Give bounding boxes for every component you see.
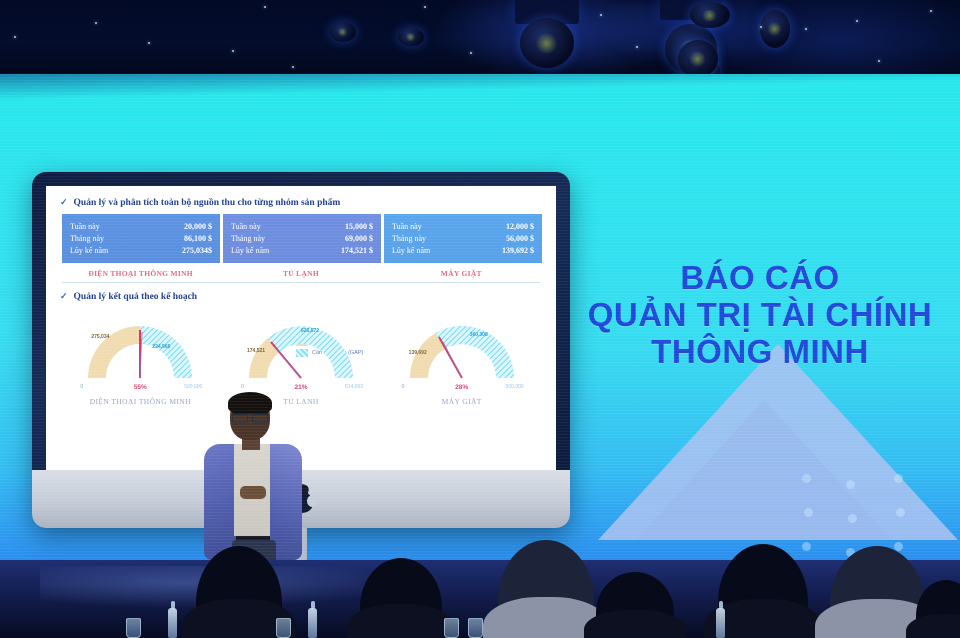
gauge-max-label: 500,000	[184, 384, 202, 390]
product-label-row: ĐIỆN THOẠI THÔNG MINH TỦ LẠNH MÁY GIẶT	[62, 269, 540, 283]
drinking-glass	[444, 618, 459, 638]
water-bottle	[168, 608, 177, 638]
kpi-label: Tháng này	[70, 234, 104, 243]
kpi-value: 86,100 $	[184, 234, 212, 243]
bullet-text-1: Quản lý và phân tích toàn bộ nguồn thu c…	[74, 198, 341, 208]
led-video-wall: BÁO CÁO QUẢN TRỊ TÀI CHÍNH THÔNG MINH ✓ …	[0, 74, 960, 566]
ceiling-star-light	[805, 28, 807, 30]
kpi-label: Tháng này	[231, 234, 265, 243]
presenter-hair	[228, 392, 272, 414]
kpi-card-washer: Tuần này 12,000 $ Tháng này 56,000 $ Lũy…	[384, 214, 542, 263]
kpi-value: 56,000 $	[506, 234, 534, 243]
gauge-max-label: 500,000	[506, 384, 524, 390]
stage-light-fixture	[690, 2, 730, 28]
kpi-card-fridge: Tuần này 15,000 $ Tháng này 69,000 $ Lũy…	[223, 214, 381, 263]
gauge-dial: 275,034 224,966 0 500,000 55%	[78, 318, 202, 382]
kpi-value: 69,000 $	[345, 234, 373, 243]
product-label-smartphone: ĐIỆN THOẠI THÔNG MINH	[62, 269, 219, 278]
ceiling-star-light	[292, 66, 294, 68]
kpi-label: Lũy kế năm	[392, 246, 430, 255]
kpi-line-month: Tháng này 56,000 $	[392, 232, 534, 244]
gauge-gap-value: 224,966	[152, 344, 170, 350]
gauge-fridge: 174,521 626,572 0 814,093 21% TỦ LẠNH	[221, 318, 382, 404]
drinking-glass	[126, 618, 141, 638]
gauge-min-label: 0	[241, 384, 244, 390]
kpi-value: 15,000 $	[345, 222, 373, 231]
ceiling-star-light	[930, 10, 932, 12]
ceiling-star-light	[470, 52, 472, 54]
kpi-label: Tuần này	[231, 222, 261, 231]
kpi-line-week: Tuần này 15,000 $	[231, 220, 373, 232]
kpi-card-row: Tuần này 20,000 $ Tháng này 86,100 $ Lũy…	[62, 214, 542, 263]
venue-ceiling	[0, 0, 960, 78]
gauge-chart-row: 275,034 224,966 0 500,000 55% ĐIỆN THOẠI…	[60, 318, 542, 404]
headline-line-3: THÔNG MINH	[560, 334, 960, 371]
ceiling-star-light	[14, 36, 16, 38]
check-icon: ✓	[60, 198, 68, 208]
ceiling-star-light	[95, 22, 97, 24]
gauge-min-label: 0	[80, 384, 83, 390]
gauge-washer: 139,692 360,308 0 500,000 28% MÁY GIẶT	[381, 318, 542, 404]
kpi-line-ytd: Lũy kế năm 139,692 $	[392, 244, 534, 256]
stage-light-fixture	[520, 18, 574, 68]
kpi-value: 139,692 $	[502, 246, 534, 255]
ceiling-star-light	[600, 14, 602, 16]
gauge-name-washer: MÁY GIẶT	[381, 397, 542, 406]
gauge-dial: 174,521 626,572 0 814,093 21%	[239, 318, 363, 382]
kpi-value: 12,000 $	[506, 222, 534, 231]
headline-line-1: BÁO CÁO	[560, 260, 960, 297]
stage-light-fixture	[760, 10, 790, 48]
screen-top-shadow	[0, 74, 960, 100]
product-label-washer: MÁY GIẶT	[383, 269, 540, 278]
gauge-percent-label: 55%	[134, 384, 147, 391]
ceiling-star-light	[264, 6, 266, 8]
kpi-label: Lũy kế năm	[231, 246, 269, 255]
kpi-line-week: Tuần này 20,000 $	[70, 220, 212, 232]
presenter-person	[192, 394, 314, 566]
bullet-plan-tracking: ✓ Quản lý kết quả theo kế hoạch	[60, 292, 542, 302]
kpi-line-week: Tuần này 12,000 $	[392, 220, 534, 232]
gauge-smartphone: 275,034 224,966 0 500,000 55% ĐIỆN THOẠI…	[60, 318, 221, 404]
product-label-fridge: TỦ LẠNH	[222, 269, 379, 278]
kpi-line-month: Tháng này 86,100 $	[70, 232, 212, 244]
headline-line-2: QUẢN TRỊ TÀI CHÍNH	[560, 297, 960, 334]
water-bottle	[716, 608, 725, 638]
ceiling-star-light	[856, 20, 858, 22]
ceiling-star-light	[148, 42, 150, 44]
water-bottle	[308, 608, 317, 638]
gauge-actual-value: 275,034	[91, 334, 109, 340]
presenter-hands	[240, 486, 266, 499]
ceiling-star-light	[232, 50, 234, 52]
ceiling-star-light	[424, 6, 426, 8]
kpi-value: 275,034$	[182, 246, 212, 255]
gauge-dial: 139,692 360,308 0 500,000 28%	[400, 318, 524, 382]
presenter-glasses-icon	[232, 413, 268, 420]
drinking-glass	[276, 618, 291, 638]
gauge-actual-value: 174,521	[247, 348, 265, 354]
gauge-max-label: 814,093	[345, 384, 363, 390]
gauge-gap-value: 360,308	[470, 332, 488, 338]
gauge-percent-label: 28%	[455, 384, 468, 391]
ceiling-star-light	[636, 46, 638, 48]
conference-stage-photo: BÁO CÁO QUẢN TRỊ TÀI CHÍNH THÔNG MINH ✓ …	[0, 0, 960, 638]
kpi-line-ytd: Lũy kế năm 275,034$	[70, 244, 212, 256]
ceiling-star-light	[760, 26, 762, 28]
check-icon: ✓	[60, 292, 68, 302]
bullet-revenue-analysis: ✓ Quản lý và phân tích toàn bộ nguồn thu…	[60, 198, 542, 208]
kpi-card-smartphone: Tuần này 20,000 $ Tháng này 86,100 $ Lũy…	[62, 214, 220, 263]
gauge-min-label: 0	[402, 384, 405, 390]
gauge-percent-label: 21%	[294, 384, 307, 391]
kpi-value: 174,521 $	[341, 246, 373, 255]
bullet-text-2: Quản lý kết quả theo kế hoạch	[74, 292, 198, 302]
kpi-line-month: Tháng này 69,000 $	[231, 232, 373, 244]
kpi-value: 20,000 $	[184, 222, 212, 231]
kpi-label: Lũy kế năm	[70, 246, 108, 255]
kpi-label: Tháng này	[392, 234, 426, 243]
drinking-glass	[468, 618, 483, 638]
gauge-gap-value: 626,572	[301, 328, 319, 334]
gauge-svg	[78, 318, 202, 382]
stage-light-fixture	[398, 28, 424, 46]
gauge-actual-value: 139,692	[409, 350, 427, 356]
kpi-line-ytd: Lũy kế năm 174,521 $	[231, 244, 373, 256]
stage-light-fixture	[678, 40, 718, 78]
kpi-label: Tuần này	[70, 222, 100, 231]
kpi-label: Tuần này	[392, 222, 422, 231]
ceiling-star-light	[878, 60, 880, 62]
presentation-headline: BÁO CÁO QUẢN TRỊ TÀI CHÍNH THÔNG MINH	[560, 260, 960, 371]
stage-light-fixture	[330, 22, 356, 42]
